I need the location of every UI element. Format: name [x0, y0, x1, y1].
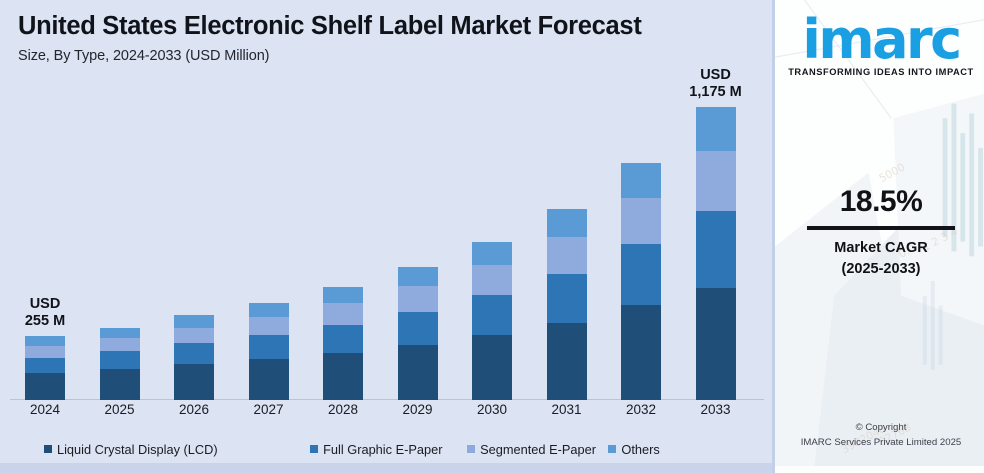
stacked-bar[interactable]	[547, 209, 587, 400]
bar-group	[536, 86, 598, 400]
cagr-label: Market CAGR	[775, 238, 984, 259]
logo-tagline: TRANSFORMING IDEAS INTO IMPACT	[775, 67, 984, 77]
bar-segment[interactable]	[547, 209, 587, 237]
bar-segment[interactable]	[547, 274, 587, 323]
bar-segment[interactable]	[398, 286, 438, 312]
bar-segment[interactable]	[100, 351, 140, 368]
bar-segment[interactable]	[547, 237, 587, 274]
x-axis-tick-2027: 2027	[238, 402, 300, 417]
legend-label: Segmented E-Paper	[480, 442, 596, 457]
bar-segment[interactable]	[621, 198, 661, 244]
bar-segment[interactable]	[398, 345, 438, 400]
bar-segment[interactable]	[25, 373, 65, 400]
legend-label: Liquid Crystal Display (LCD)	[57, 442, 218, 457]
chart-header: United States Electronic Shelf Label Mar…	[0, 0, 772, 64]
bar-segment[interactable]	[323, 353, 363, 400]
stacked-bar[interactable]	[696, 107, 736, 400]
bar-segment[interactable]	[621, 244, 661, 305]
bar-segment[interactable]	[323, 287, 363, 303]
bar-segment[interactable]	[174, 343, 214, 363]
legend-label: Others	[621, 442, 659, 457]
bar-group	[461, 86, 523, 400]
page-title: United States Electronic Shelf Label Mar…	[18, 12, 772, 41]
bar-segment[interactable]	[323, 325, 363, 353]
x-axis-tick-2025: 2025	[89, 402, 151, 417]
legend-label: Full Graphic E-Paper	[323, 442, 442, 457]
bar-segment[interactable]	[25, 336, 65, 345]
bar-segment[interactable]	[547, 323, 587, 400]
bar-segment[interactable]	[174, 364, 214, 400]
bar-segment[interactable]	[696, 288, 736, 400]
copyright-line-2: IMARC Services Private Limited 2025	[775, 436, 984, 451]
stacked-bar[interactable]	[174, 315, 214, 400]
legend-strip	[0, 463, 772, 473]
stacked-bar[interactable]	[25, 336, 65, 400]
bar-segment[interactable]	[249, 359, 289, 400]
imarc-logo: imarc TRANSFORMING IDEAS INTO IMPACT	[775, 14, 984, 77]
legend-item[interactable]: Segmented E-Paper	[467, 442, 596, 457]
legend-swatch-icon	[608, 445, 616, 453]
bar-value-label: USD 255 M	[0, 296, 91, 330]
legend-swatch-icon	[467, 445, 475, 453]
bar-value-label: USD 1,175 M	[670, 67, 762, 101]
chart-infographic: United States Electronic Shelf Label Mar…	[0, 0, 984, 473]
x-axis-labels: 2024202520262027202820292030203120322033	[0, 402, 772, 428]
bar-segment[interactable]	[472, 295, 512, 335]
stacked-bar[interactable]	[249, 303, 289, 400]
bar-group	[610, 86, 672, 400]
cagr-divider	[807, 226, 955, 230]
cagr-period: (2025-2033)	[775, 259, 984, 280]
bar-group	[387, 86, 449, 400]
bar-segment[interactable]	[174, 315, 214, 327]
legend-item[interactable]: Others	[608, 442, 659, 457]
chart-panel: United States Electronic Shelf Label Mar…	[0, 0, 772, 473]
bar-segment[interactable]	[696, 211, 736, 288]
bar-segment[interactable]	[174, 328, 214, 344]
bar-segment[interactable]	[249, 335, 289, 359]
bar-segment[interactable]	[100, 328, 140, 338]
legend-swatch-icon	[310, 445, 318, 453]
bar-segment[interactable]	[472, 242, 512, 265]
x-axis-tick-2030: 2030	[461, 402, 523, 417]
cagr-value: 18.5%	[775, 185, 984, 219]
x-axis-tick-2033: 2033	[685, 402, 747, 417]
bar-segment[interactable]	[472, 335, 512, 400]
plot-area: USD 255 MUSD 1,175 M	[0, 86, 772, 400]
bar-segment[interactable]	[696, 107, 736, 151]
chart-legend: Liquid Crystal Display (LCD)Full Graphic…	[0, 437, 772, 461]
bar-segment[interactable]	[100, 338, 140, 352]
x-axis-tick-2029: 2029	[387, 402, 449, 417]
brand-panel: 5000 0.0 1 2 3 4 0.1 3982048 92768 imarc…	[772, 0, 984, 473]
bar-group: USD 255 M	[14, 86, 76, 400]
bar-segment[interactable]	[696, 151, 736, 211]
cagr-block: 18.5% Market CAGR (2025-2033)	[775, 185, 984, 280]
bar-segment[interactable]	[398, 267, 438, 286]
stacked-bar[interactable]	[398, 267, 438, 400]
bar-segment[interactable]	[323, 303, 363, 325]
x-axis-tick-2031: 2031	[536, 402, 598, 417]
stacked-bar[interactable]	[100, 328, 140, 400]
stacked-bar[interactable]	[621, 163, 661, 400]
bar-group	[89, 86, 151, 400]
copyright-notice: © Copyright IMARC Services Private Limit…	[775, 421, 984, 451]
stacked-bar[interactable]	[323, 287, 363, 400]
bar-group	[163, 86, 225, 400]
legend-item[interactable]: Liquid Crystal Display (LCD)	[44, 442, 218, 457]
copyright-line-1: © Copyright	[775, 421, 984, 436]
bar-segment[interactable]	[621, 305, 661, 400]
x-axis-tick-2028: 2028	[312, 402, 374, 417]
x-axis-tick-2032: 2032	[610, 402, 672, 417]
legend-item[interactable]: Full Graphic E-Paper	[310, 442, 442, 457]
bar-segment[interactable]	[472, 265, 512, 296]
x-axis-tick-2024: 2024	[14, 402, 76, 417]
bar-segment[interactable]	[249, 303, 289, 317]
x-axis-tick-2026: 2026	[163, 402, 225, 417]
stacked-bar[interactable]	[472, 242, 512, 400]
legend-swatch-icon	[44, 445, 52, 453]
bar-segment[interactable]	[25, 358, 65, 373]
logo-wordmark: imarc	[775, 14, 984, 65]
bar-group	[238, 86, 300, 400]
bar-segment[interactable]	[621, 163, 661, 198]
bar-segment[interactable]	[398, 312, 438, 345]
chart-subtitle: Size, By Type, 2024-2033 (USD Million)	[18, 48, 772, 64]
bar-group: USD 1,175 M	[685, 86, 747, 400]
bar-segment[interactable]	[100, 369, 140, 400]
bar-group	[312, 86, 374, 400]
bar-segment[interactable]	[25, 346, 65, 358]
bar-segment[interactable]	[249, 317, 289, 335]
